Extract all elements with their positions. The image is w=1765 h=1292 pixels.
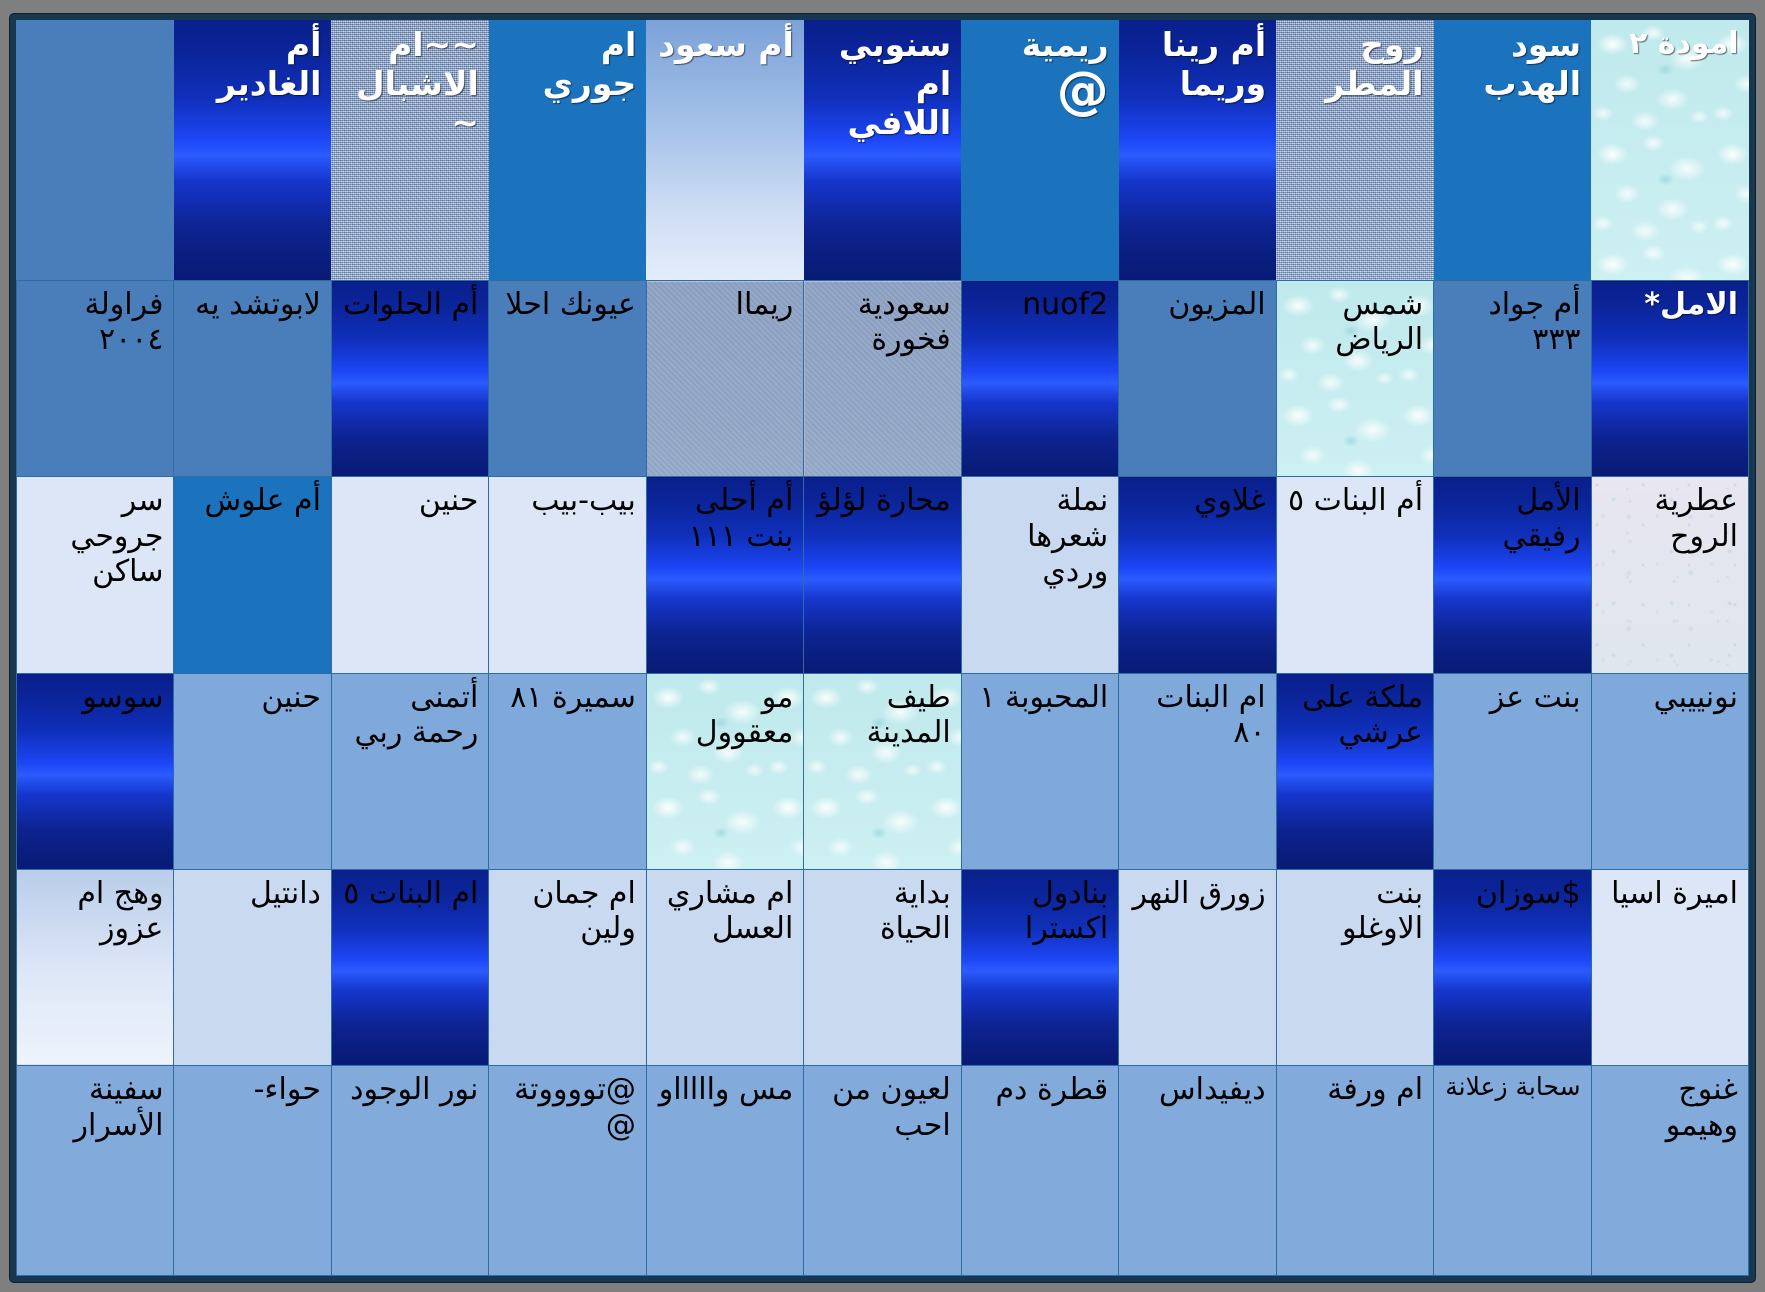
cell-reemaa[interactable]: ريماا	[646, 281, 803, 477]
cell-shams-alriyadh[interactable]: شمس الرياض	[1276, 281, 1433, 477]
cell-text: بنادول اكسترا	[1025, 876, 1108, 946]
table-body: الامل* أم جواد ٣٣٣ شمس الرياض المزيون nu…	[17, 281, 1749, 1276]
cell-text: أم علوش	[205, 483, 321, 518]
cell-text: ريماا	[736, 287, 794, 322]
header-label: ريمية@	[971, 25, 1108, 117]
cell-banadol-extra[interactable]: بنادول اكسترا	[961, 869, 1118, 1065]
cell-text: لعيون من احب	[832, 1072, 951, 1142]
page-frame: امودة ٢ سود الهدب روح المطر أم رينا وريم…	[0, 0, 1765, 1292]
cell-text: دانتيل	[250, 876, 321, 911]
cell-text: حنين	[261, 680, 321, 715]
cell-noor-alwujoud[interactable]: نور الوجود	[331, 1066, 488, 1276]
cell-text: نونييبي	[1654, 680, 1738, 715]
cell-namlah-shaaruha-wardi[interactable]: نملة شعرها وردي	[961, 477, 1118, 673]
cell-text: أم جواد ٣٣٣	[1488, 287, 1580, 357]
header-cell-rooh-almatar[interactable]: روح المطر	[1276, 20, 1433, 281]
cell-alamal[interactable]: الامل*	[1591, 281, 1748, 477]
cell-zawraq-alnahr[interactable]: زورق النهر	[1119, 869, 1276, 1065]
header-label: روح المطر	[1325, 25, 1424, 103]
names-table: امودة ٢ سود الهدب روح المطر أم رينا وريم…	[16, 20, 1749, 1276]
cell-text: بنت الاوغلو	[1342, 876, 1423, 946]
cell-text: الأمل رفيقي	[1502, 483, 1580, 553]
cell-text: سر جروحي ساكن	[70, 483, 163, 589]
header-label: سنوبي ام اللافي	[839, 25, 951, 142]
cell-qatrat-dam[interactable]: قطرة دم	[961, 1066, 1118, 1276]
cell-nooneebi[interactable]: نونييبي	[1591, 673, 1748, 869]
cell-text: أم الحلوات	[343, 287, 478, 322]
cell-text: بداية الحياة	[880, 876, 951, 946]
cell-defedas[interactable]: ديفيداس	[1119, 1066, 1276, 1276]
table-container: امودة ٢ سود الهدب روح المطر أم رينا وريم…	[10, 14, 1755, 1282]
cell-text: المحبوبة ١	[979, 680, 1108, 715]
header-label: ~~ام الاشبال ~	[356, 25, 479, 142]
cell-atamanna-rahmat-rabbi[interactable]: أتمنى رحمة ربي	[331, 673, 488, 869]
cell-text: الامل*	[1644, 287, 1738, 322]
header-label: سود الهدب	[1483, 25, 1581, 103]
cell-text: سحابة زعلانة	[1445, 1072, 1580, 1101]
cell-text: المزيون	[1168, 287, 1265, 322]
cell-tayf-almadinah[interactable]: طيف المدينة	[804, 673, 961, 869]
cell-text: سعودية فخورة	[858, 287, 951, 357]
cell-text: nuof2	[1022, 287, 1108, 322]
cell-text: سفينة الأسرار	[74, 1072, 164, 1142]
header-label: أم سعود	[658, 25, 794, 64]
cell-text: ديفيداس	[1159, 1072, 1266, 1107]
cell-malikah-ala-arshi[interactable]: ملكة على عرشي	[1276, 673, 1433, 869]
cell-sir-jurouhi-sakin[interactable]: سر جروحي ساكن	[17, 477, 174, 673]
cell-alamal-rafeeqi[interactable]: الأمل رفيقي	[1434, 477, 1591, 673]
header-cell-reemiyah[interactable]: ريمية@	[961, 20, 1118, 281]
header-cell-um-reena-wa-reema[interactable]: أم رينا وريما	[1119, 20, 1276, 281]
cell-ghanouj-wa-haymo[interactable]: غنوج وهيمو	[1591, 1066, 1748, 1276]
cell-saudiyah-fakhoorah[interactable]: سعودية فخورة	[804, 281, 961, 477]
header-label: امودة ٢	[1629, 26, 1739, 61]
cell-haneen[interactable]: حنين	[331, 477, 488, 673]
table-row: اميرة اسيا $سوزان بنت الاوغلو زورق النهر…	[17, 869, 1749, 1065]
cell-text: ام البنات ٥	[343, 876, 478, 911]
cell-text: شمس الرياض	[1335, 287, 1423, 357]
cell-text: قطرة دم	[995, 1072, 1108, 1107]
table-row: غنوج وهيمو سحابة زعلانة ام ورفة ديفيداس …	[17, 1066, 1749, 1276]
cell-liuyoun-man-uhibb[interactable]: لعيون من احب	[804, 1066, 961, 1276]
cell-atriyat-alrooh[interactable]: عطرية الروح	[1591, 477, 1748, 673]
cell-text: حنين	[419, 483, 479, 518]
header-cell-snoopy-um-allafi[interactable]: سنوبي ام اللافي	[804, 20, 961, 281]
cell-amirat-asya[interactable]: اميرة اسيا	[1591, 869, 1748, 1065]
cell-text: فراولة ٢٠٠٤	[85, 287, 164, 357]
cell-toootah[interactable]: @تووووتة@	[489, 1066, 646, 1276]
cell-text: حواء-	[254, 1072, 321, 1107]
table-row: الامل* أم جواد ٣٣٣ شمس الرياض المزيون nu…	[17, 281, 1749, 477]
cell-hawaa[interactable]: حواء-	[174, 1066, 331, 1276]
cell-um-albanat-5[interactable]: أم البنات ٥	[1276, 477, 1433, 673]
cell-text: ام مشاري العسل	[667, 876, 793, 946]
cell-sameerah-81[interactable]: سميرة ٨١	[489, 673, 646, 869]
cell-almahbouba-1[interactable]: المحبوبة ١	[961, 673, 1118, 869]
cell-um-albanat-80[interactable]: ام البنات ٨٠	[1119, 673, 1276, 869]
cell-um-jawad[interactable]: أم جواد ٣٣٣	[1434, 281, 1591, 477]
cell-um-alhalawat[interactable]: أم الحلوات	[331, 281, 488, 477]
table-header: امودة ٢ سود الهدب روح المطر أم رينا وريم…	[17, 20, 1749, 281]
cell-text: بنت عز	[1490, 680, 1581, 715]
cell-text: لابوتشد يه	[195, 287, 321, 322]
header-cell-sood-alhadab[interactable]: سود الهدب	[1434, 20, 1591, 281]
cell-danteel[interactable]: دانتيل	[174, 869, 331, 1065]
cell-bint-izz[interactable]: بنت عز	[1434, 673, 1591, 869]
cell-beep-beep[interactable]: بيب-بيب	[489, 477, 646, 673]
cell-text: وهج ام عزوز	[77, 876, 163, 946]
cell-text: سوسو	[82, 680, 163, 715]
cell-text: ام البنات ٨٠	[1156, 680, 1265, 750]
cell-um-warafah[interactable]: ام ورفة	[1276, 1066, 1433, 1276]
cell-haneen-2[interactable]: حنين	[174, 673, 331, 869]
cell-uyounak-ahla[interactable]: عيونك احلا	[489, 281, 646, 477]
cell-text: ملكة على عرشي	[1302, 680, 1423, 750]
header-label: أم الغادير	[217, 25, 322, 103]
cell-almazyoon[interactable]: المزيون	[1119, 281, 1276, 477]
cell-maharat-lulu[interactable]: محارة لؤلؤ	[804, 477, 961, 673]
header-cell-um-alghadeer[interactable]: أم الغادير	[174, 20, 331, 281]
cell-text: ام جمان ولين	[532, 876, 636, 946]
cell-text: زورق النهر	[1132, 876, 1265, 911]
cell-text: نملة شعرها وردي	[1027, 483, 1108, 589]
header-cell-um-alashbal[interactable]: ~~ام الاشبال ~	[331, 20, 488, 281]
cell-suzan[interactable]: $سوزان	[1434, 869, 1591, 1065]
cell-farawlah-2004[interactable]: فراولة ٢٠٠٤	[17, 281, 174, 477]
cell-text: اميرة اسيا	[1611, 876, 1738, 911]
cell-um-mishari-alasal[interactable]: ام مشاري العسل	[646, 869, 803, 1065]
cell-text: غنوج وهيمو	[1666, 1072, 1738, 1142]
header-cell-um-saud[interactable]: أم سعود	[646, 20, 803, 281]
cell-sahabah-zaalanah[interactable]: سحابة زعلانة	[1434, 1066, 1591, 1276]
header-label: أم رينا وريما	[1162, 25, 1266, 103]
cell-soso[interactable]: سوسو	[17, 673, 174, 869]
cell-text: ام ورفة	[1327, 1072, 1423, 1107]
cell-text: نور الوجود	[350, 1072, 478, 1107]
cell-text: سميرة ٨١	[510, 680, 636, 715]
cell-wahj-um-azooz[interactable]: وهج ام عزوز	[17, 869, 174, 1065]
cell-text: محارة لؤلؤ	[817, 483, 951, 518]
cell-text: عيونك احلا	[505, 287, 635, 322]
cell-text: أم أحلى بنت ١١١	[689, 483, 794, 553]
cell-text: طيف المدينة	[867, 680, 951, 750]
cell-ghalawi[interactable]: غلاوي	[1119, 477, 1276, 673]
cell-miss-waaaw[interactable]: مس واااااو	[646, 1066, 803, 1276]
cell-text: عطرية الروح	[1655, 483, 1739, 553]
cell-nuof2[interactable]: nuof2	[961, 281, 1118, 477]
cell-labootshd-yah[interactable]: لابوتشد يه	[174, 281, 331, 477]
cell-text: $سوزان	[1476, 876, 1581, 911]
cell-text: بيب-بيب	[531, 483, 636, 518]
cell-um-aloush[interactable]: أم علوش	[174, 477, 331, 673]
header-cell-amodah[interactable]: امودة ٢	[1591, 20, 1748, 281]
cell-um-albanat-5b[interactable]: ام البنات ٥	[331, 869, 488, 1065]
header-label: ام جوري	[543, 25, 637, 103]
cell-text: أتمنى رحمة ربي	[355, 680, 479, 750]
table-row: عطرية الروح الأمل رفيقي أم البنات ٥ غلاو…	[17, 477, 1749, 673]
cell-text: أم البنات ٥	[1288, 483, 1423, 518]
cell-safinat-alasrar[interactable]: سفينة الأسرار	[17, 1066, 174, 1276]
header-row: امودة ٢ سود الهدب روح المطر أم رينا وريم…	[17, 20, 1749, 281]
header-cell-um-jouri[interactable]: ام جوري	[489, 20, 646, 281]
cell-text: مو معقوول	[696, 680, 794, 750]
cell-text: مس واااااو	[659, 1072, 794, 1107]
cell-um-ahla-bint-111[interactable]: أم أحلى بنت ١١١	[646, 477, 803, 673]
cell-text: @تووووتة@	[514, 1072, 636, 1142]
cell-text: غلاوي	[1194, 483, 1266, 518]
cell-mo-maaqool[interactable]: مو معقوول	[646, 673, 803, 869]
cell-bidayat-alhayat[interactable]: بداية الحياة	[804, 869, 961, 1065]
table-row: نونييبي بنت عز ملكة على عرشي ام البنات ٨…	[17, 673, 1749, 869]
cell-um-juman-wa-leen[interactable]: ام جمان ولين	[489, 869, 646, 1065]
cell-bint-alooghlo[interactable]: بنت الاوغلو	[1276, 869, 1433, 1065]
